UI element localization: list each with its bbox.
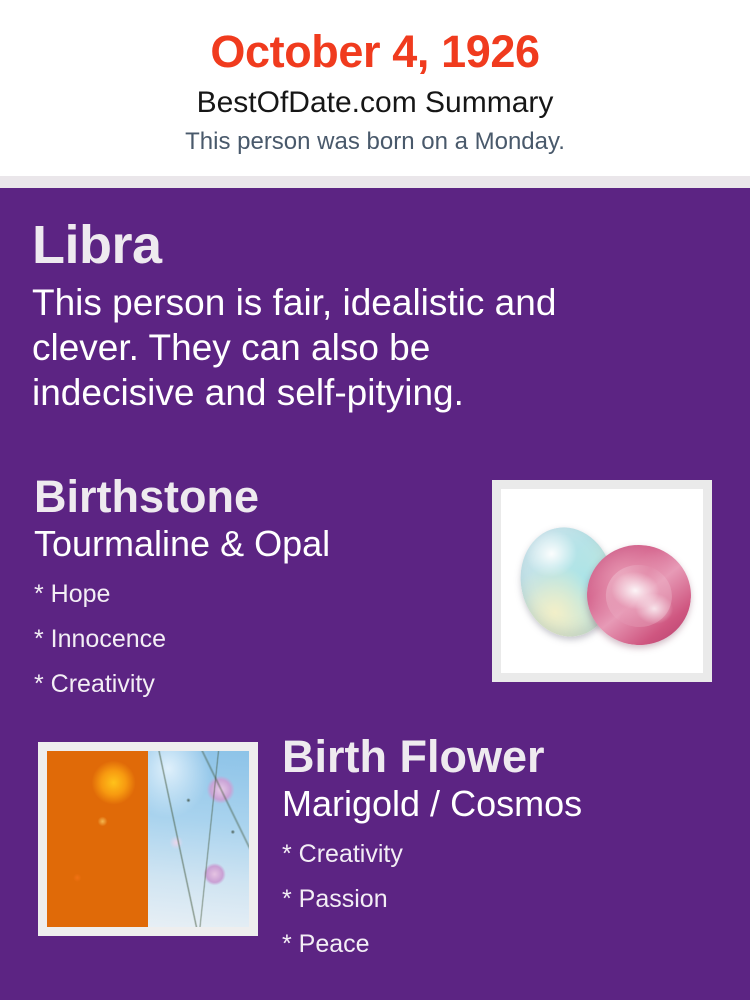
birthstone-heading: Birthstone <box>34 470 464 524</box>
birthstone-section: Birthstone Tourmaline & Opal * Hope * In… <box>34 470 464 707</box>
cosmos-photo-icon <box>148 751 249 927</box>
card-header: October 4, 1926 BestOfDate.com Summary T… <box>0 0 750 176</box>
list-item: * Hope <box>34 572 464 617</box>
card-body: Libra This person is fair, idealistic an… <box>0 188 750 1000</box>
birth-flower-image: marigold-and-cosmos-flowers <box>47 751 249 927</box>
birth-flower-heading: Birth Flower <box>282 730 722 784</box>
zodiac-sign-heading: Libra <box>32 214 632 276</box>
birthstone-trait-list: * Hope * Innocence * Creativity <box>34 572 464 707</box>
list-item: * Creativity <box>34 662 464 707</box>
birth-flower-names: Marigold / Cosmos <box>282 782 722 826</box>
birthstone-names: Tourmaline & Opal <box>34 522 464 566</box>
birthstone-image: opal-and-pink-tourmaline-gemstones <box>501 489 703 673</box>
birth-day-note: This person was born on a Monday. <box>0 127 750 157</box>
site-summary-label: BestOfDate.com Summary <box>0 85 750 121</box>
summary-card: October 4, 1926 BestOfDate.com Summary T… <box>0 0 750 1000</box>
zodiac-description: This person is fair, idealistic and clev… <box>32 280 602 415</box>
list-item: * Innocence <box>34 617 464 662</box>
header-divider <box>0 176 750 188</box>
birthstone-image-frame: opal-and-pink-tourmaline-gemstones <box>492 480 712 682</box>
birth-flower-section: Birth Flower Marigold / Cosmos * Creativ… <box>282 730 722 967</box>
marigold-photo-icon <box>47 751 148 927</box>
list-item: * Passion <box>282 877 722 922</box>
zodiac-section: Libra This person is fair, idealistic an… <box>32 214 632 415</box>
birth-flower-trait-list: * Creativity * Passion * Peace <box>282 832 722 967</box>
page-title-date: October 4, 1926 <box>0 26 750 78</box>
list-item: * Peace <box>282 922 722 967</box>
birth-flower-image-frame: marigold-and-cosmos-flowers <box>38 742 258 936</box>
list-item: * Creativity <box>282 832 722 877</box>
